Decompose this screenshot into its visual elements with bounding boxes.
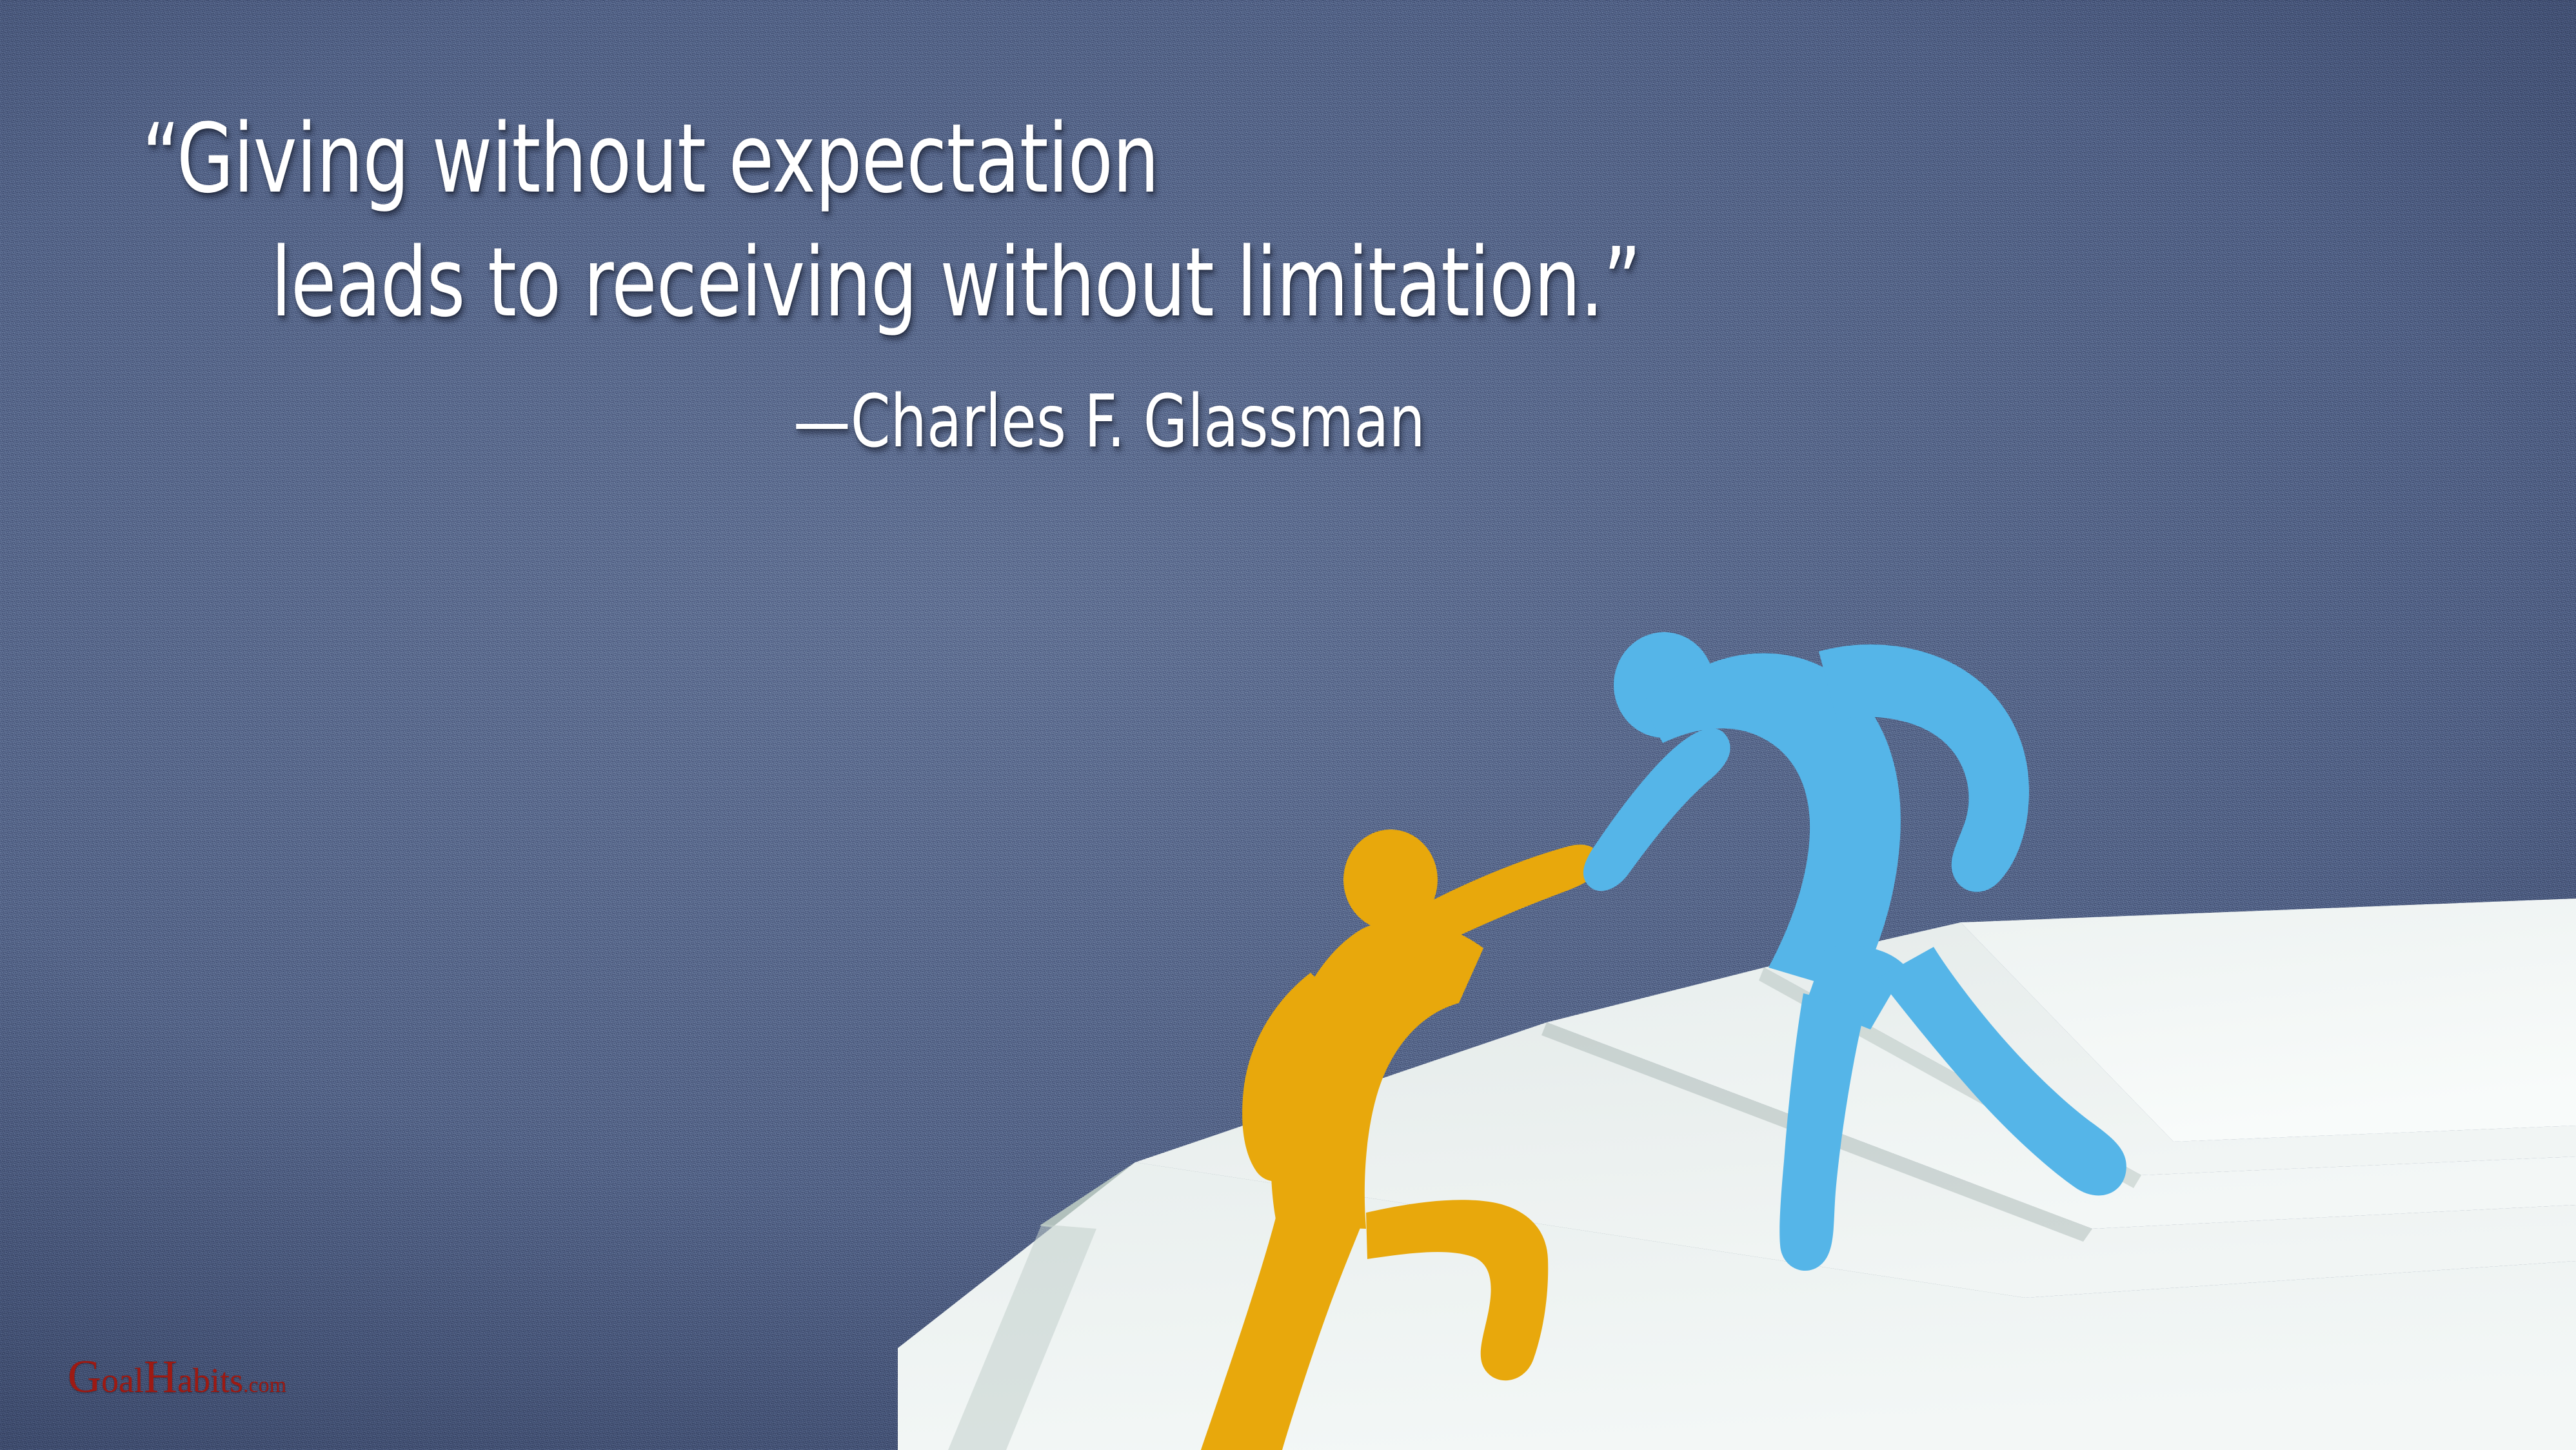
- quote-line-1: “Giving without expectation: [142, 97, 1551, 221]
- watermark-g: G: [68, 1351, 101, 1402]
- staircase: [898, 899, 2576, 1450]
- watermark-oal: oal: [101, 1361, 144, 1400]
- helper-figure-extended-arm: [1583, 728, 1730, 891]
- wallpaper-canvas: “Giving without expectation leads to rec…: [0, 0, 2576, 1450]
- watermark-h: H: [144, 1351, 177, 1402]
- watermark-abits: abits: [177, 1361, 243, 1400]
- goalhabits-watermark[interactable]: GoalHabits.com: [68, 1353, 286, 1400]
- watermark-domain: .com: [243, 1373, 286, 1397]
- quote-line-2: leads to receiving without limitation.”: [271, 221, 1569, 344]
- quote-block: “Giving without expectation leads to rec…: [0, 97, 1780, 462]
- quote-attribution: —Charles F. Glassman: [793, 382, 1661, 462]
